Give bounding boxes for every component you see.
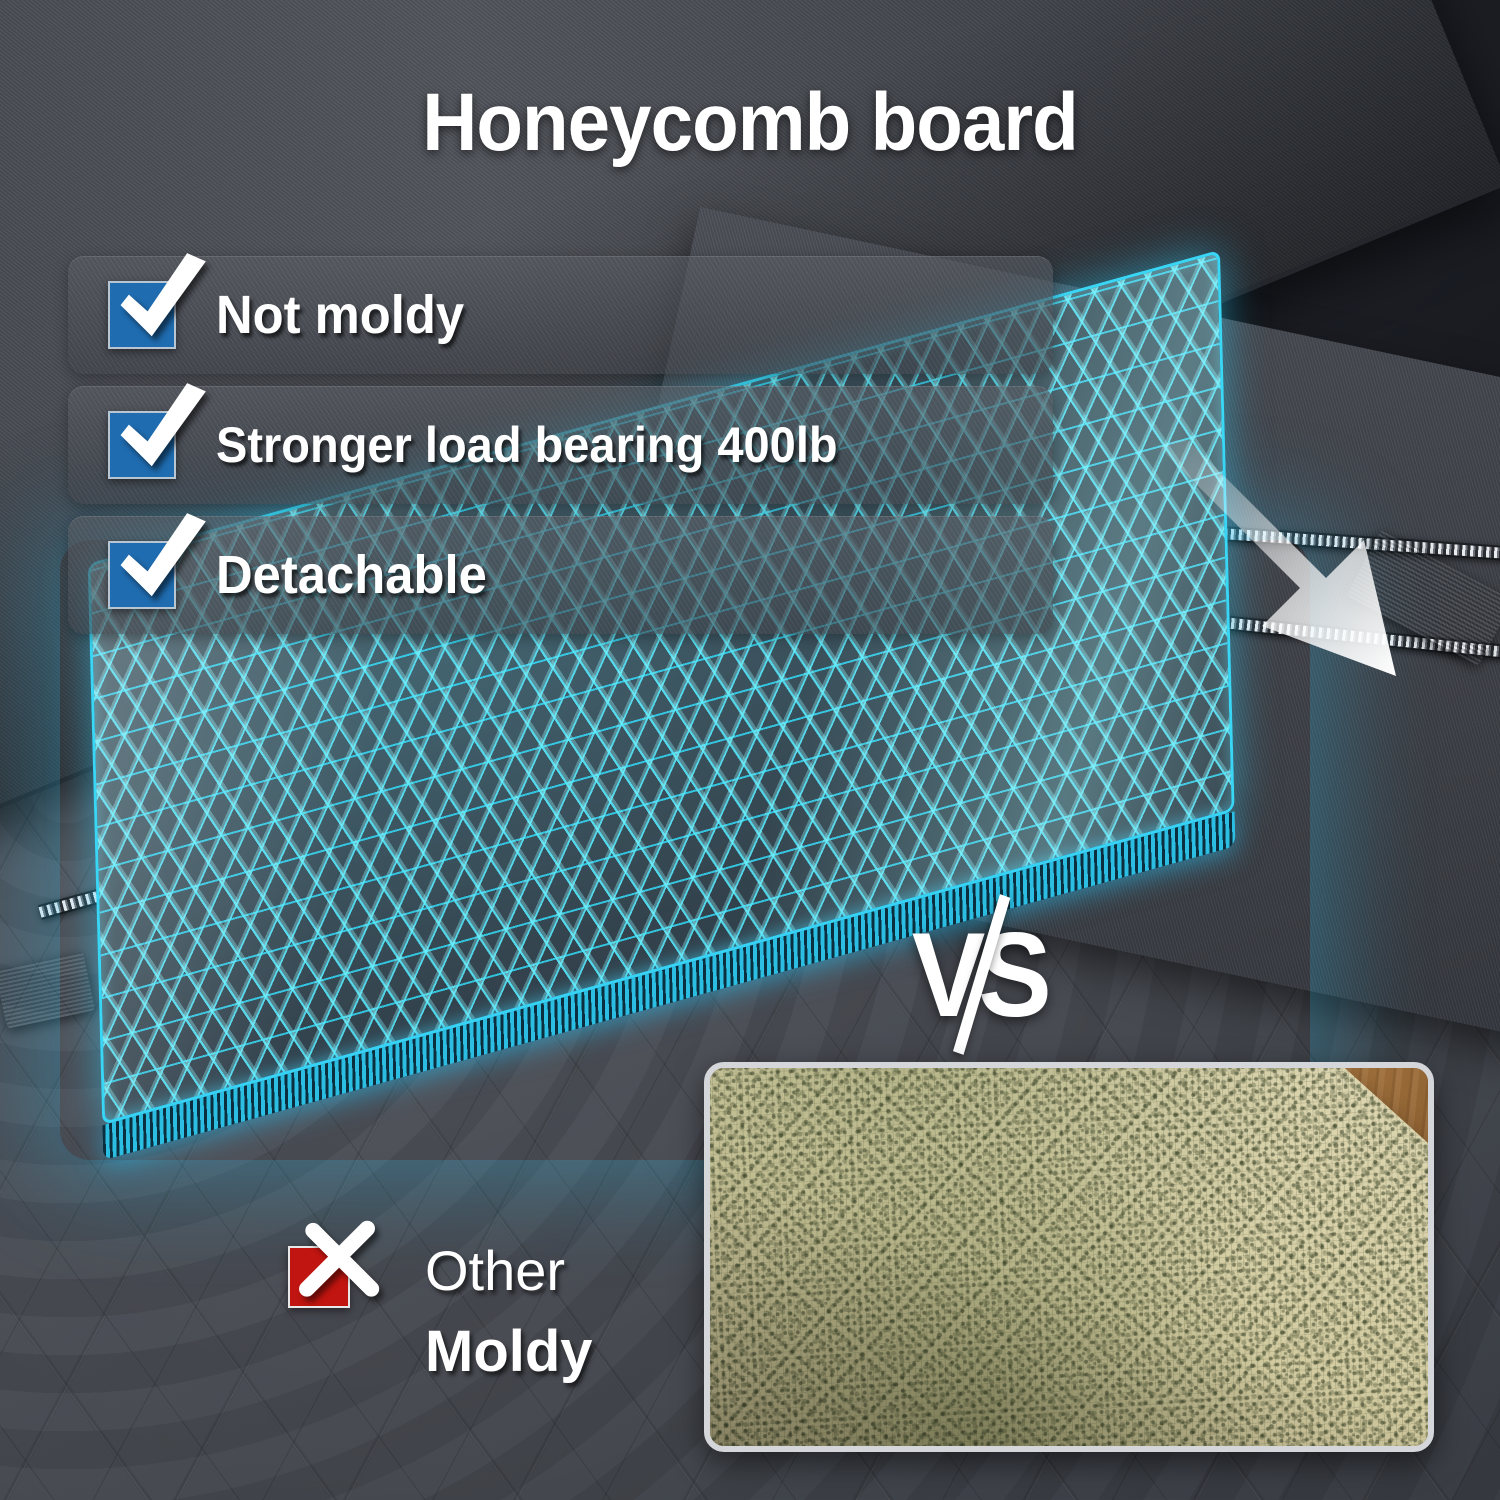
feature-row-not-moldy[interactable]: Not moldy <box>68 256 1053 374</box>
x-icon-box <box>288 1246 350 1308</box>
feature-label-text: Stronger load bearing <box>216 417 717 473</box>
moldy-label: Moldy <box>425 1318 593 1385</box>
feature-row-detachable[interactable]: Detachable <box>68 516 1053 634</box>
check-icon-box <box>108 411 176 479</box>
feature-list: Not moldy Stronger load bearing 400lb De… <box>68 256 1053 634</box>
down-right-arrow-icon <box>1150 440 1490 700</box>
feature-label-value: 400lb <box>717 417 837 473</box>
feature-label: Stronger load bearing 400lb <box>216 416 838 474</box>
vs-badge: VS <box>912 900 1068 1050</box>
feature-label: Not moldy <box>216 284 464 346</box>
feature-row-load-bearing[interactable]: Stronger load bearing 400lb <box>68 386 1053 504</box>
x-icon <box>284 1214 388 1318</box>
check-icon-box <box>108 541 176 609</box>
feature-label: Detachable <box>216 544 487 606</box>
moldy-felt-pad <box>704 1062 1434 1452</box>
product-infographic: Honeycomb board Not moldy Stronger load … <box>0 0 1500 1500</box>
moldy-pad-inset[interactable] <box>704 1062 1434 1452</box>
check-icon-box <box>108 281 176 349</box>
page-title: Honeycomb board <box>53 76 1448 170</box>
check-icon <box>106 381 210 485</box>
check-icon <box>106 511 210 615</box>
other-label: Other <box>425 1238 565 1303</box>
check-icon <box>106 251 210 355</box>
